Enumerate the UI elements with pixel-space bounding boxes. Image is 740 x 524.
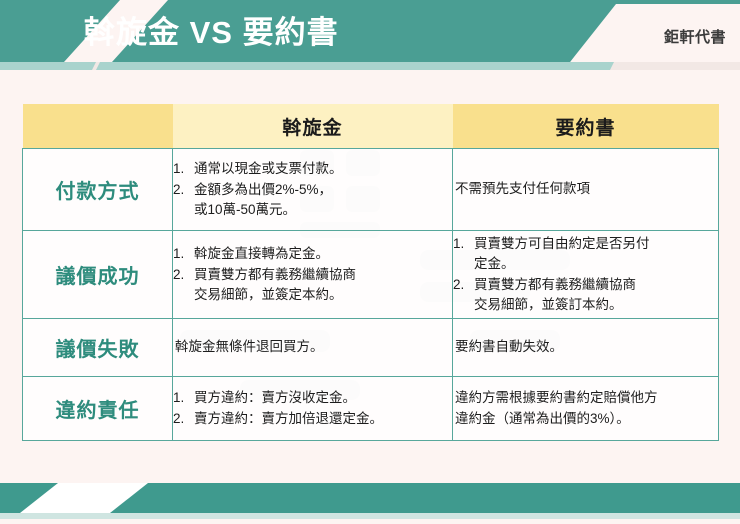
table-row: 議價成功 1.斡旋金直接轉為定金。 2.買賣雙方都有義務繼續協商 交易細節，並簽… xyxy=(23,231,719,319)
list-item: 2.金額多為出價2%-5%， 或10萬-50萬元。 xyxy=(173,180,452,221)
row-label-payment: 付款方式 xyxy=(23,149,173,231)
comparison-table-wrapper: 斡旋金 要約書 付款方式 1.通常以現金或支票付款。 2.金額多為出價2%-5%… xyxy=(22,104,718,441)
column-header-offer: 要約書 xyxy=(453,104,719,149)
ordered-list: 1.通常以現金或支票付款。 2.金額多為出價2%-5%， 或10萬-50萬元。 xyxy=(173,159,452,221)
cell-text: 要約書自動失效。 xyxy=(453,337,718,357)
ordered-list: 1.買賣雙方可自由約定是否另付 定金。 2.買賣雙方都有義務繼續協商 交易細節，… xyxy=(453,234,718,316)
cell-escrow-payment: 1.通常以現金或支票付款。 2.金額多為出價2%-5%， 或10萬-50萬元。 xyxy=(173,149,453,231)
brand-label: 鉅軒代書 xyxy=(664,26,726,47)
comparison-table: 斡旋金 要約書 付款方式 1.通常以現金或支票付款。 2.金額多為出價2%-5%… xyxy=(22,104,719,441)
row-label-negotiation-failure: 議價失敗 xyxy=(23,319,173,377)
list-item: 1.通常以現金或支票付款。 xyxy=(173,159,452,179)
cell-escrow-negotiation-success: 1.斡旋金直接轉為定金。 2.買賣雙方都有義務繼續協商 交易細節，並簽定本約。 xyxy=(173,231,453,319)
column-header-blank xyxy=(23,104,173,149)
cell-escrow-negotiation-failure: 斡旋金無條件退回買方。 xyxy=(173,319,453,377)
cell-offer-negotiation-failure: 要約書自動失效。 xyxy=(453,319,719,377)
table-row: 違約責任 1.買方違約：賣方沒收定金。 2.賣方違約：賣方加倍退還定金。 違約方… xyxy=(23,377,719,441)
table-body: 付款方式 1.通常以現金或支票付款。 2.金額多為出價2%-5%， 或10萬-5… xyxy=(23,149,719,441)
footer-banner-shape xyxy=(0,483,740,519)
ordered-list: 1.買方違約：賣方沒收定金。 2.賣方違約：賣方加倍退還定金。 xyxy=(173,388,452,430)
list-item: 1.買方違約：賣方沒收定金。 xyxy=(173,388,452,408)
column-header-escrow: 斡旋金 xyxy=(173,104,453,149)
list-item: 2.賣方違約：賣方加倍退還定金。 xyxy=(173,409,452,429)
cell-text: 斡旋金無條件退回買方。 xyxy=(173,337,452,357)
cell-offer-payment: 不需預先支付任何款項 xyxy=(453,149,719,231)
cell-text: 不需預先支付任何款項 xyxy=(453,179,718,199)
list-item: 2.買賣雙方都有義務繼續協商 交易細節，並簽定本約。 xyxy=(173,265,452,306)
ordered-list: 1.斡旋金直接轉為定金。 2.買賣雙方都有義務繼續協商 交易細節，並簽定本約。 xyxy=(173,244,452,306)
cell-escrow-breach-liability: 1.買方違約：賣方沒收定金。 2.賣方違約：賣方加倍退還定金。 xyxy=(173,377,453,441)
cell-offer-breach-liability: 違約方需根據要約書約定賠償他方 違約金（通常為出價的3%）。 xyxy=(453,377,719,441)
table-row: 付款方式 1.通常以現金或支票付款。 2.金額多為出價2%-5%， 或10萬-5… xyxy=(23,149,719,231)
list-item: 1.斡旋金直接轉為定金。 xyxy=(173,244,452,264)
cell-text: 違約方需根據要約書約定賠償他方 違約金（通常為出價的3%）。 xyxy=(453,388,718,429)
page-header: 斡旋金 VS 要約書 鉅軒代書 xyxy=(0,0,740,72)
cell-offer-negotiation-success: 1.買賣雙方可自由約定是否另付 定金。 2.買賣雙方都有義務繼續協商 交易細節，… xyxy=(453,231,719,319)
list-item: 2.買賣雙方都有義務繼續協商 交易細節，並簽訂本約。 xyxy=(453,275,718,316)
table-row: 議價失敗 斡旋金無條件退回買方。 要約書自動失效。 xyxy=(23,319,719,377)
page-footer xyxy=(0,483,740,519)
row-label-negotiation-success: 議價成功 xyxy=(23,231,173,319)
page-title: 斡旋金 VS 要約書 xyxy=(84,8,339,58)
table-header-row: 斡旋金 要約書 xyxy=(23,104,719,149)
row-label-breach-liability: 違約責任 xyxy=(23,377,173,441)
table-head: 斡旋金 要約書 xyxy=(23,104,719,149)
list-item: 1.買賣雙方可自由約定是否另付 定金。 xyxy=(453,234,718,275)
